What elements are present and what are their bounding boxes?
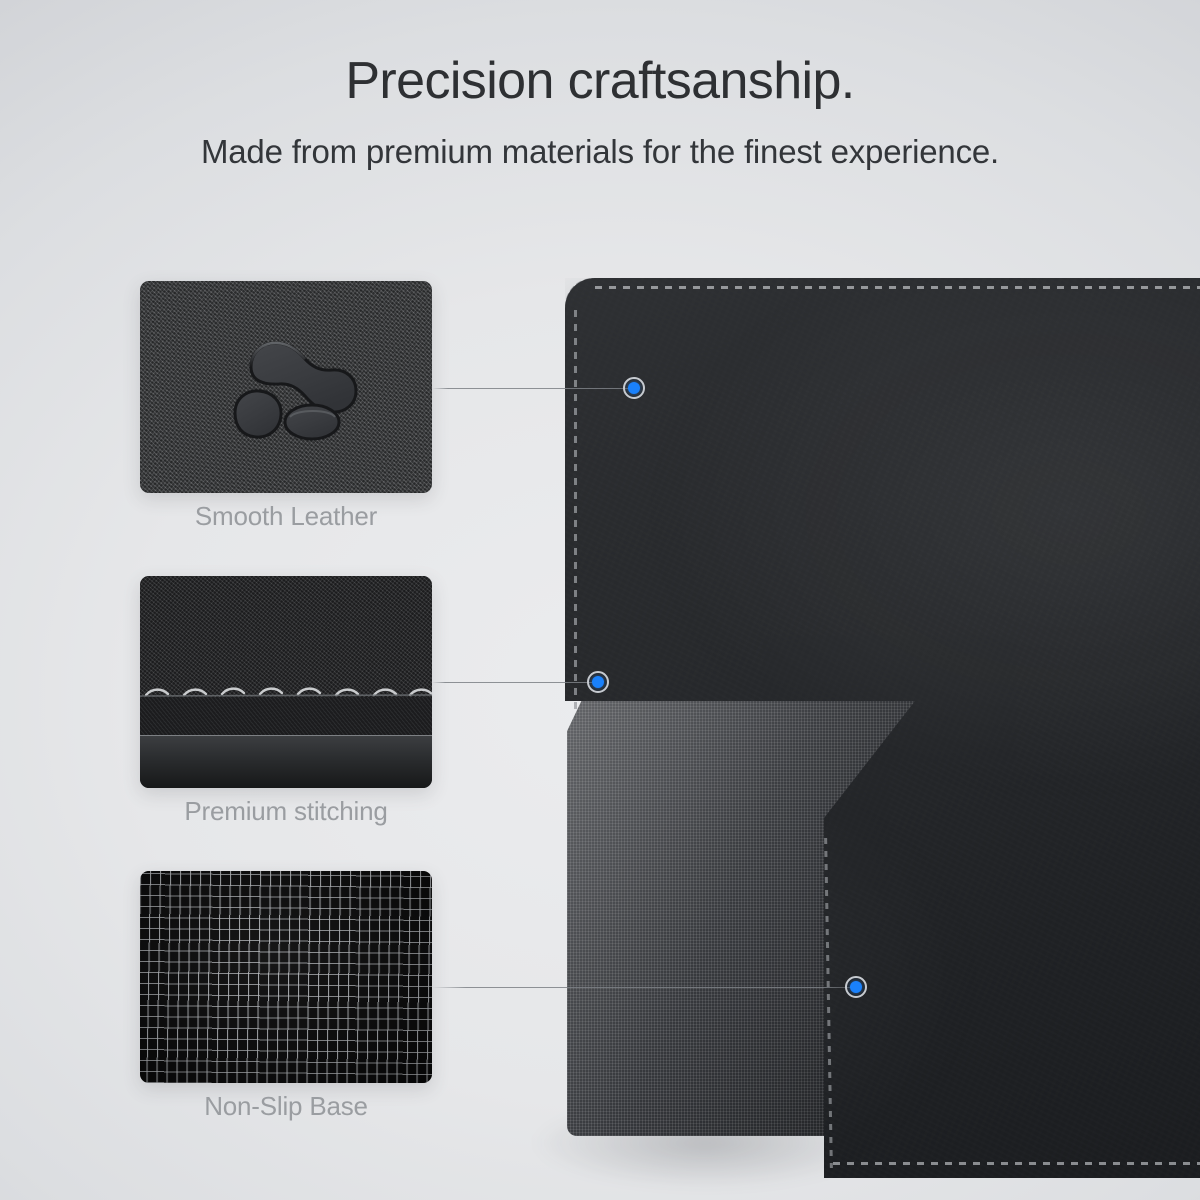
caption-premium-stitching: Premium stitching — [140, 796, 432, 827]
connector-line-non-slip-base — [432, 987, 856, 988]
header: Precision craftsanship. Made from premiu… — [0, 0, 1200, 172]
marker-dot-non-slip-base[interactable] — [845, 976, 867, 998]
product-image-desk-mat — [565, 278, 1200, 1178]
leather-upper-face — [140, 576, 432, 697]
woven-mesh-texture — [140, 871, 432, 1083]
product-feature-infographic: Precision craftsanship. Made from premiu… — [0, 0, 1200, 1200]
connector-line-smooth-leather — [432, 388, 634, 389]
embossed-brand-logo-icon — [140, 281, 432, 493]
stitch-macro-texture — [140, 576, 432, 788]
caption-smooth-leather: Smooth Leather — [140, 501, 432, 532]
stitch-thread-row — [140, 682, 432, 704]
marker-dot-premium-stitching[interactable] — [587, 671, 609, 693]
page-subtitle: Made from premium materials for the fine… — [0, 132, 1200, 172]
thumbnail-premium-stitching[interactable] — [140, 576, 432, 788]
stitch-line-top — [595, 286, 1200, 289]
thumbnail-non-slip-base[interactable] — [140, 871, 432, 1083]
page-title: Precision craftsanship. — [0, 52, 1200, 110]
stitch-line-left — [574, 310, 577, 710]
stitch-line-bottom — [833, 1162, 1200, 1165]
thumbnail-smooth-leather[interactable] — [140, 281, 432, 493]
mat-edge-shadow — [140, 735, 432, 788]
marker-dot-smooth-leather[interactable] — [623, 377, 645, 399]
caption-non-slip-base: Non-Slip Base — [140, 1091, 432, 1122]
connector-line-premium-stitching — [432, 682, 598, 683]
